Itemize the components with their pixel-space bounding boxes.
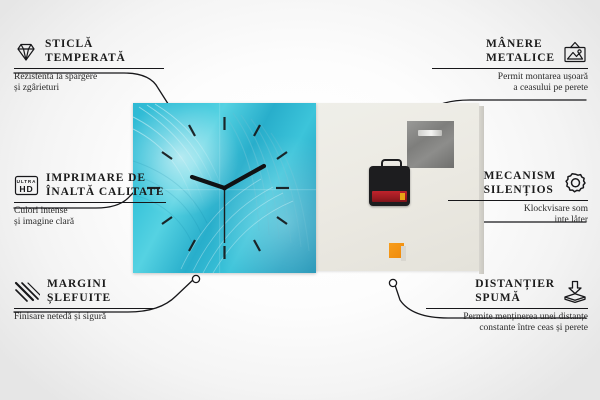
callout-divider: [448, 200, 588, 201]
product-photo: [133, 103, 479, 277]
clock-mechanism: [369, 166, 410, 206]
callout-title: STICLĂ TEMPERATĂ: [45, 38, 126, 65]
ultra-hd-icon: ultra HD: [14, 175, 39, 196]
callout-sticla-temperata[interactable]: STICLĂ TEMPERATĂ Rezistentă la spargere …: [14, 38, 164, 94]
clock-center-cap: [222, 186, 227, 191]
callout-divider: [426, 308, 588, 309]
callout-mecanism-silentios[interactable]: MECANISM SILENȚIOS Klockvisare som inte …: [448, 170, 588, 226]
hour-hand: [192, 177, 225, 188]
gear-icon: [563, 172, 588, 196]
minute-hand: [225, 166, 265, 188]
callout-imprimare-inalta-calitate[interactable]: ultra HD IMPRIMARE DE ÎNALTĂ CALITATE Cu…: [14, 172, 166, 228]
callout-title: IMPRIMARE DE ÎNALTĂ CALITATE: [46, 172, 164, 199]
hatch-lines-icon: [14, 281, 40, 302]
mechanism-hanging-loop: [381, 159, 402, 170]
callout-description: Culori intense și imagine clară: [14, 206, 166, 228]
metal-hanger-plate: [407, 121, 454, 168]
callout-manere-metalice[interactable]: MÂNERE METALICE Permit montarea ușoară a…: [432, 38, 588, 94]
callout-description: Permite menținerea unei distanțe constan…: [426, 312, 588, 334]
callout-title-row: MARGINI ȘLEFUITE: [14, 278, 154, 305]
callout-divider: [432, 68, 588, 69]
arrow-pad-icon: [562, 280, 588, 304]
callout-description: Klockvisare som inte låter: [448, 204, 588, 226]
callout-title-row: STICLĂ TEMPERATĂ: [14, 38, 164, 65]
callout-title: MARGINI ȘLEFUITE: [47, 278, 111, 305]
callout-title-row: ultra HD IMPRIMARE DE ÎNALTĂ CALITATE: [14, 172, 166, 199]
callout-divider: [14, 308, 154, 309]
callout-title: MECANISM SILENȚIOS: [484, 170, 556, 197]
battery: [372, 191, 407, 202]
svg-text:HD: HD: [19, 184, 33, 194]
infographic-canvas: STICLĂ TEMPERATĂ Rezistentă la spargere …: [0, 0, 600, 400]
foam-spacer: [389, 243, 404, 258]
diamond-icon: [14, 42, 38, 62]
callout-description: Finisare netedă și sigură: [14, 312, 154, 323]
callout-title: MÂNERE METALICE: [486, 38, 555, 65]
callout-divider: [14, 68, 164, 69]
callout-title-row: MECANISM SILENȚIOS: [448, 170, 588, 197]
picture-hanger-icon: [562, 41, 588, 63]
leader-endpoint-distantier: [389, 279, 396, 286]
callout-title: DISTANȚIER SPUMĂ: [475, 278, 555, 305]
callout-distantier-spuma[interactable]: DISTANȚIER SPUMĂ Permite menținerea unei…: [426, 278, 588, 334]
callout-title-row: DISTANȚIER SPUMĂ: [426, 278, 588, 305]
callout-divider: [14, 202, 166, 203]
callout-margini-slefuite[interactable]: MARGINI ȘLEFUITE Finisare netedă și sigu…: [14, 278, 154, 323]
callout-description: Rezistentă la spargere și zgârieturi: [14, 72, 164, 94]
hanger-slot: [418, 130, 442, 136]
callout-title-row: MÂNERE METALICE: [432, 38, 588, 65]
callout-description: Permit montarea ușoară a ceasului pe per…: [432, 72, 588, 94]
